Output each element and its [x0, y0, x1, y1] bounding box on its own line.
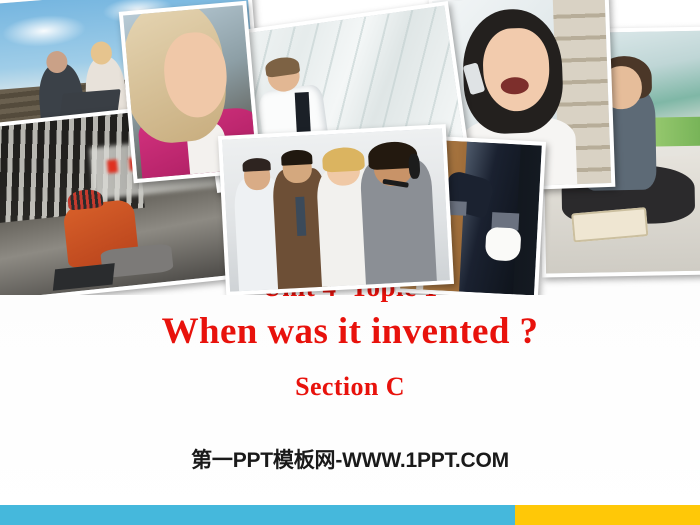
page-title: When was it invented ? [0, 309, 700, 354]
bottom-bar-blue-segment [0, 505, 515, 525]
photo-collage [0, 0, 700, 295]
bottom-bar-yellow-segment [515, 505, 700, 525]
watermark-text: 第一PPT模板网-WWW.1PPT.COM [0, 444, 700, 474]
presentation-slide: Unit 4 Topic 1 When was it invented ? Se… [0, 0, 700, 525]
bottom-color-bar [0, 505, 700, 525]
photo-call-centre-team [218, 124, 454, 295]
section-label: Section C [0, 372, 700, 402]
